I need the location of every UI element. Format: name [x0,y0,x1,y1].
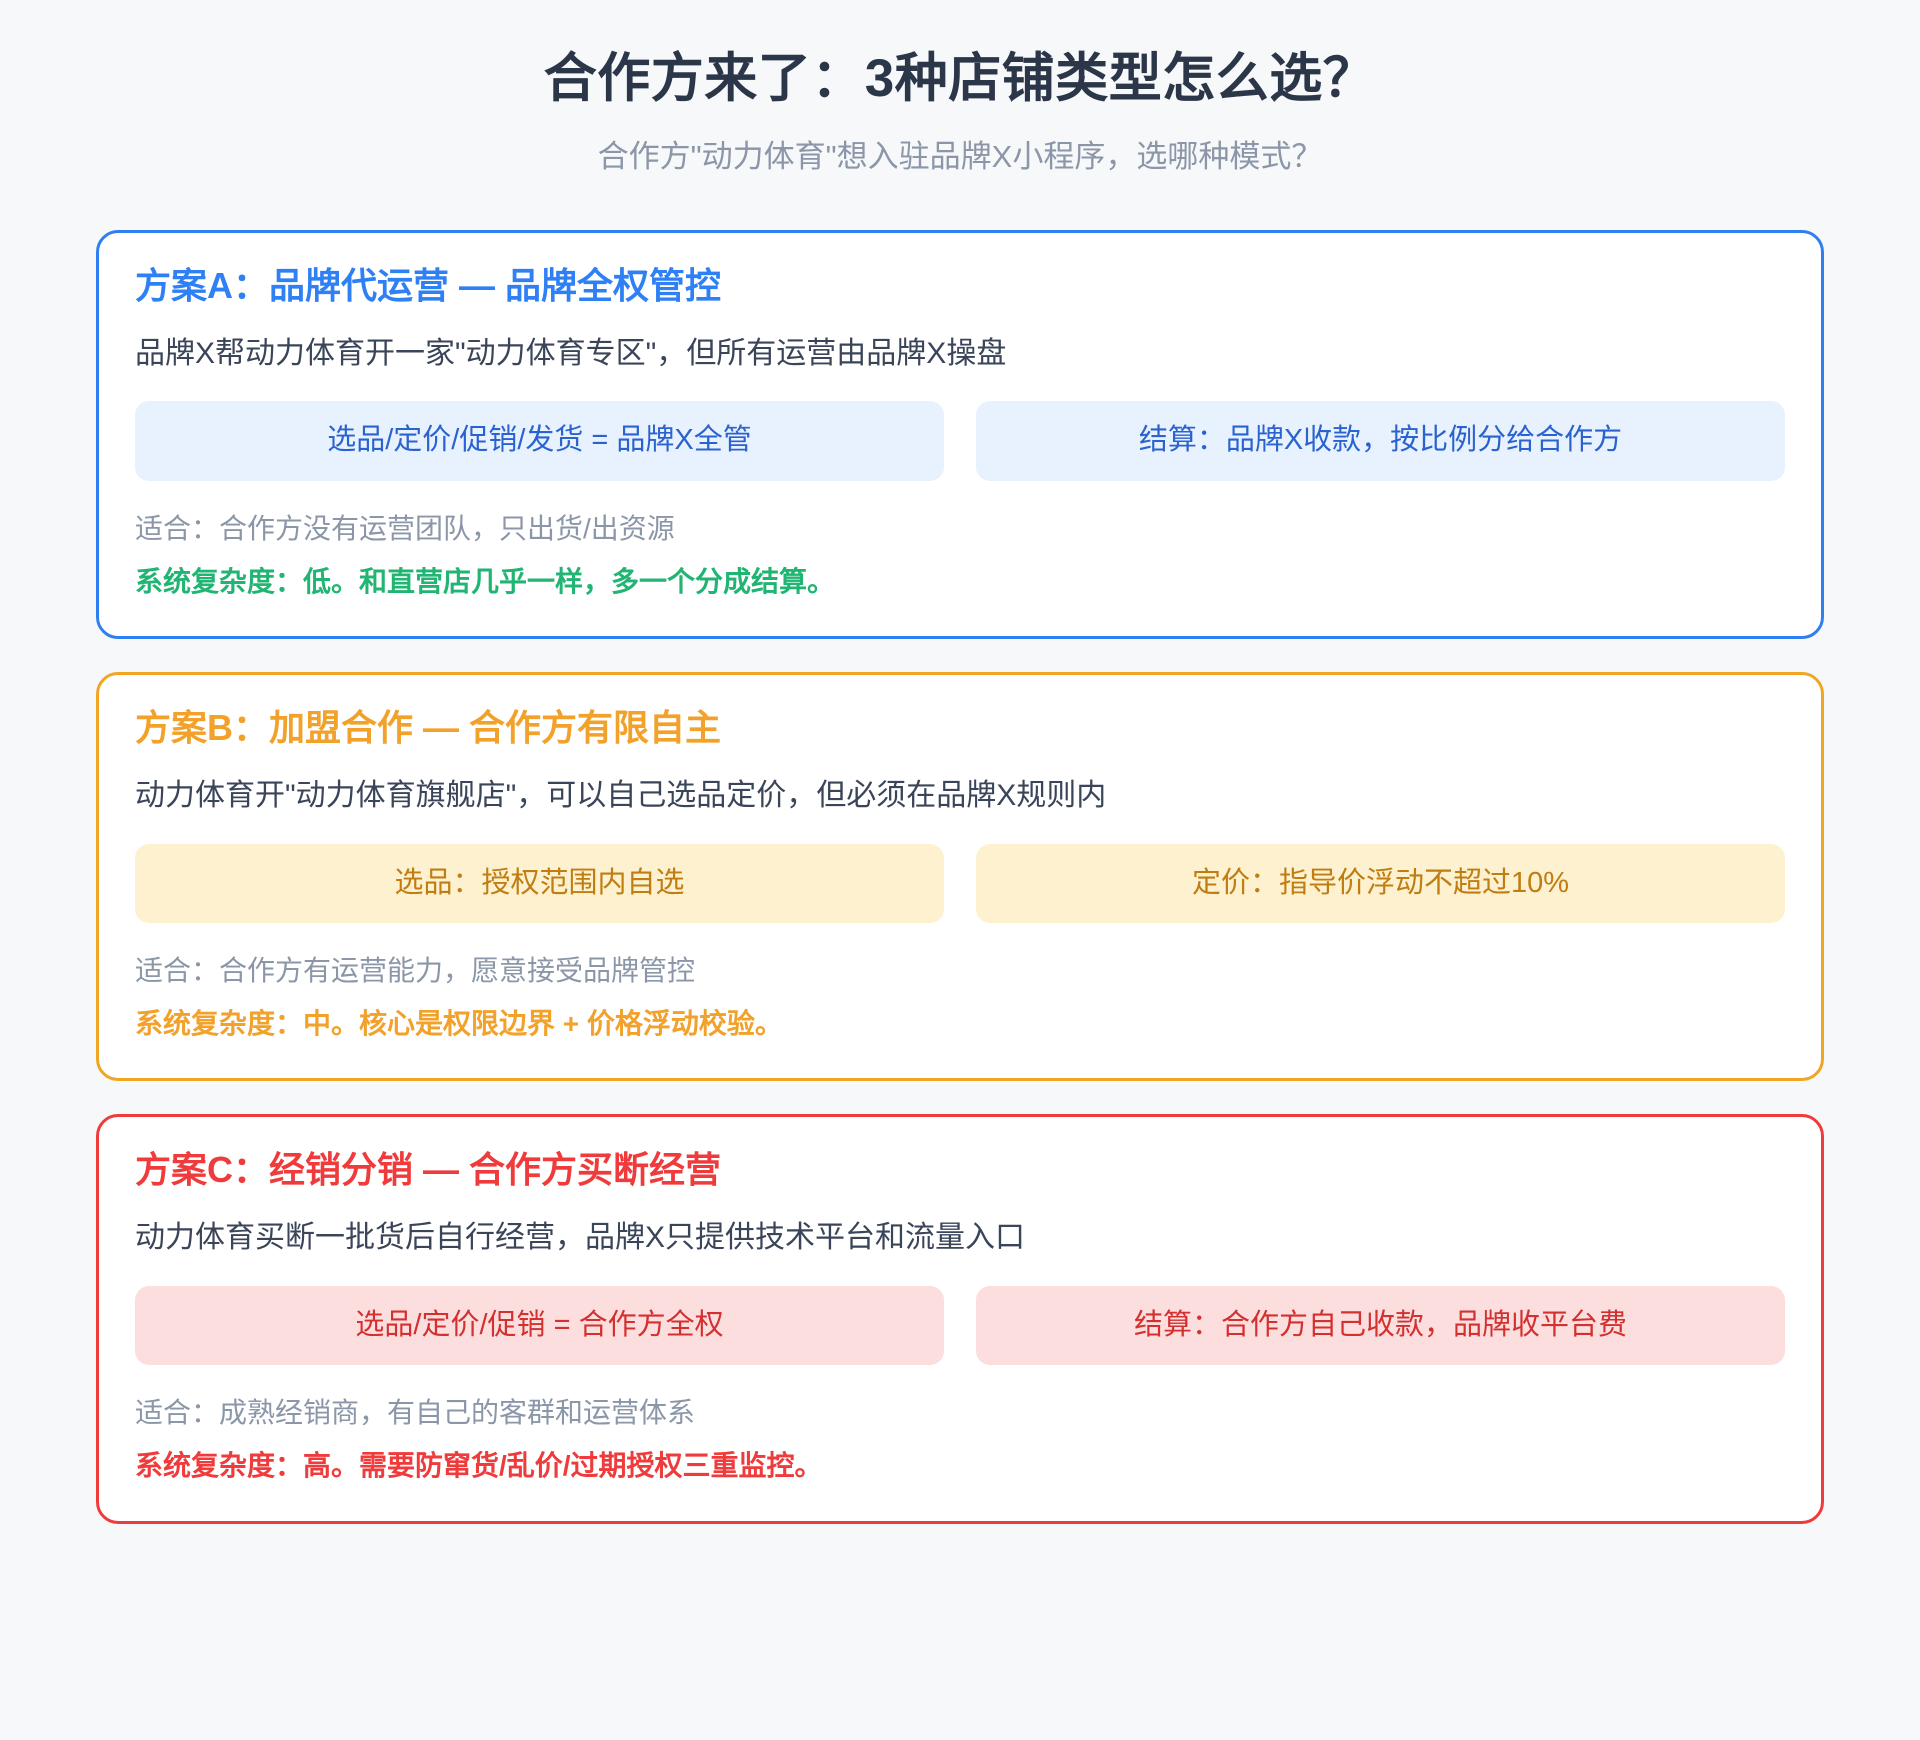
plan-card-b-description: 动力体育开"动力体育旗舰店"，可以自己选品定价，但必须在品牌X规则内 [135,774,1785,818]
plan-card-a-chip-1: 选品/定价/促销/发货 = 品牌X全管 [135,401,944,481]
plan-card-c-fit: 适合：成熟经销商，有自己的客群和运营体系 [135,1393,1785,1434]
plan-card-c[interactable]: 方案C：经销分销 — 合作方买断经营 动力体育买断一批货后自行经营，品牌X只提供… [96,1114,1824,1523]
plan-card-c-chip-2: 结算：合作方自己收款，品牌收平台费 [976,1286,1785,1366]
plan-card-list: 方案A：品牌代运营 — 品牌全权管控 品牌X帮动力体育开一家"动力体育专区"，但… [96,230,1824,1524]
plan-card-a-fit: 适合：合作方没有运营团队，只出货/出资源 [135,509,1785,550]
page-header: 合作方来了：3种店铺类型怎么选？ 合作方"动力体育"想入驻品牌X小程序，选哪种模… [96,46,1824,178]
plan-card-a-chip-row: 选品/定价/促销/发货 = 品牌X全管 结算：品牌X收款，按比例分给合作方 [135,401,1785,481]
plan-card-c-chip-1: 选品/定价/促销 = 合作方全权 [135,1286,944,1366]
plan-card-c-complexity: 系统复杂度：高。需要防窜货/乱价/过期授权三重监控。 [135,1446,1785,1487]
page-subtitle: 合作方"动力体育"想入驻品牌X小程序，选哪种模式？ [96,136,1824,178]
plan-card-b-title: 方案B：加盟合作 — 合作方有限自主 [135,705,1785,752]
plan-card-b-fit: 适合：合作方有运营能力，愿意接受品牌管控 [135,951,1785,992]
plan-card-a-chip-2: 结算：品牌X收款，按比例分给合作方 [976,401,1785,481]
plan-card-c-chip-row: 选品/定价/促销 = 合作方全权 结算：合作方自己收款，品牌收平台费 [135,1286,1785,1366]
plan-card-a-description: 品牌X帮动力体育开一家"动力体育专区"，但所有运营由品牌X操盘 [135,332,1785,376]
plan-card-c-title: 方案C：经销分销 — 合作方买断经营 [135,1147,1785,1194]
plan-card-a-title: 方案A：品牌代运营 — 品牌全权管控 [135,263,1785,310]
plan-card-b-chip-2: 定价：指导价浮动不超过10% [976,844,1785,924]
plan-card-b-chip-1: 选品：授权范围内自选 [135,844,944,924]
plan-card-b[interactable]: 方案B：加盟合作 — 合作方有限自主 动力体育开"动力体育旗舰店"，可以自己选品… [96,672,1824,1081]
plan-card-b-complexity: 系统复杂度：中。核心是权限边界 + 价格浮动校验。 [135,1004,1785,1045]
page-title: 合作方来了：3种店铺类型怎么选？ [96,46,1824,112]
plan-card-b-chip-row: 选品：授权范围内自选 定价：指导价浮动不超过10% [135,844,1785,924]
plan-card-a-complexity: 系统复杂度：低。和直营店几乎一样，多一个分成结算。 [135,562,1785,603]
plan-card-c-description: 动力体育买断一批货后自行经营，品牌X只提供技术平台和流量入口 [135,1216,1785,1260]
plan-card-a[interactable]: 方案A：品牌代运营 — 品牌全权管控 品牌X帮动力体育开一家"动力体育专区"，但… [96,230,1824,639]
page-root: 合作方来了：3种店铺类型怎么选？ 合作方"动力体育"想入驻品牌X小程序，选哪种模… [0,0,1920,1740]
